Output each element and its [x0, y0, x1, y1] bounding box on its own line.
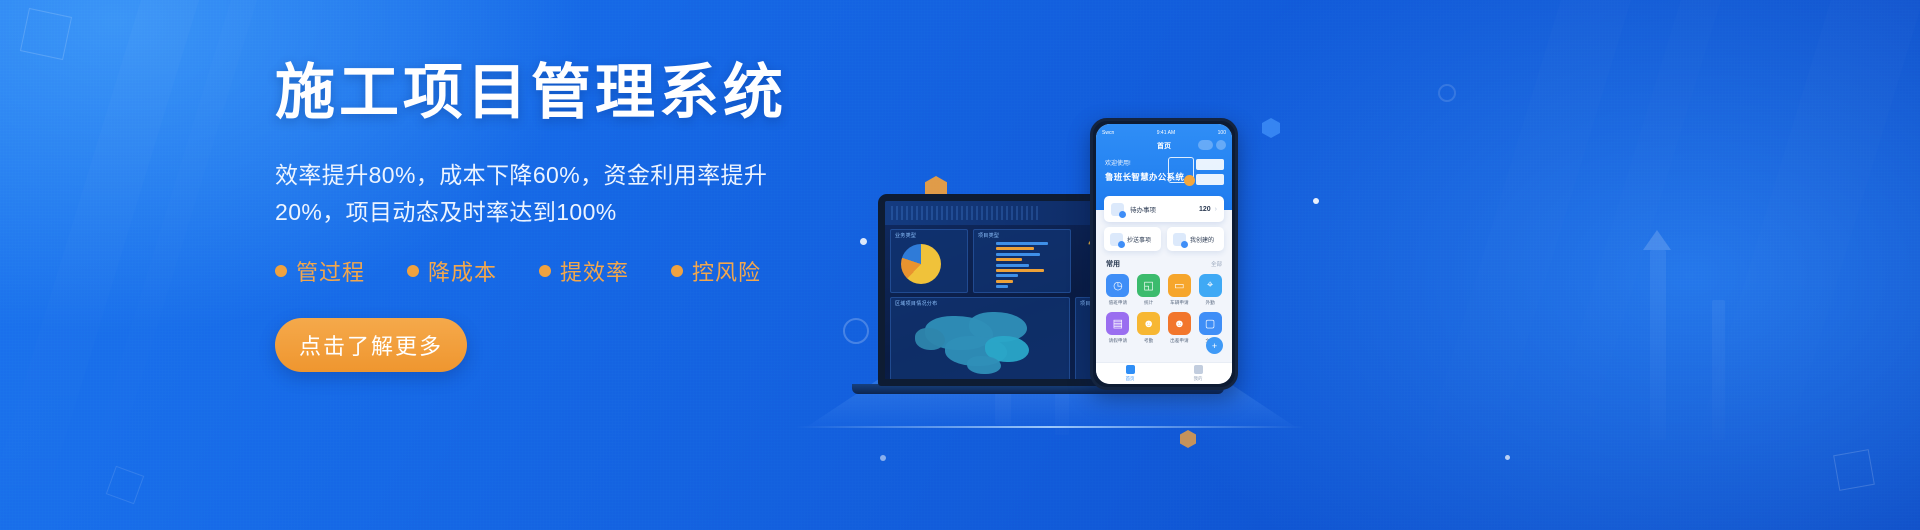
bar-chart	[996, 242, 1066, 291]
panel-business-type: 业务类型	[890, 229, 968, 293]
feature-tag-label: 降成本	[428, 255, 497, 287]
send-icon	[1110, 233, 1123, 246]
bullet-icon	[275, 265, 287, 277]
section-title: 常用	[1106, 259, 1120, 269]
quick-card-row: 抄送事项 我创建的	[1104, 227, 1224, 251]
more-icon[interactable]	[1198, 140, 1213, 150]
app-grid: ◷ 值班申请 ◱ 统计 ▭ 车辆申请 ⌖ 外勤	[1105, 274, 1223, 344]
chevron-right-icon: ›	[1215, 206, 1217, 213]
pie-chart	[901, 244, 941, 284]
bullet-icon	[407, 265, 419, 277]
banner-subtitle: 效率提升80%，成本下降60%，资金利用率提升20%，项目动态及时率达到100%	[275, 157, 795, 232]
feature-tag-label: 管过程	[296, 255, 365, 287]
panel-project-type: 项目类型	[973, 229, 1071, 293]
app-item-travel[interactable]: ☻ 出差申请	[1167, 312, 1193, 344]
status-battery: 100	[1218, 130, 1226, 136]
people-icon: ☻	[1137, 312, 1160, 335]
phone-screen: Swcn 9:41 AM 100 首页 欢迎使用! 鲁班长智慧办公系统	[1096, 124, 1232, 384]
add-button[interactable]: +	[1206, 337, 1223, 354]
panel-label: 业务类型	[895, 232, 916, 239]
target-icon[interactable]	[1216, 140, 1226, 150]
section-header-common: 常用 全部	[1106, 259, 1222, 269]
bullet-icon	[539, 265, 551, 277]
feature-tag-label: 控风险	[692, 255, 761, 287]
phone-status-bar: Swcn 9:41 AM 100	[1102, 128, 1226, 137]
quick-card-label: 抄送事项	[1127, 235, 1151, 244]
tab-home[interactable]: 首页	[1096, 363, 1164, 384]
person-icon: ☻	[1168, 312, 1191, 335]
phone-mockup: Swcn 9:41 AM 100 首页 欢迎使用! 鲁班长智慧办公系统	[1090, 118, 1238, 390]
todo-icon	[1111, 203, 1124, 216]
clock-icon: ◷	[1106, 274, 1129, 297]
app-item-leave[interactable]: ▤ 请假申请	[1105, 312, 1131, 344]
pedestal-edge	[796, 426, 1304, 428]
app-item-attendance[interactable]: ☻ 考勤	[1136, 312, 1162, 344]
status-time: 9:41 AM	[1157, 130, 1175, 136]
quick-card-created[interactable]: 我创建的	[1167, 227, 1224, 251]
document-icon: ▤	[1106, 312, 1129, 335]
status-carrier: Swcn	[1102, 130, 1114, 136]
phone-tab-bar: 首页 我的	[1096, 362, 1232, 384]
panel-region-map: 区域项目情况分布	[890, 297, 1070, 385]
feature-tag-0: 管过程	[275, 255, 365, 287]
quick-card-cc[interactable]: 抄送事项	[1104, 227, 1161, 251]
user-icon	[1194, 365, 1203, 374]
app-label: 车辆申请	[1170, 300, 1188, 306]
phone-illustration	[1168, 155, 1226, 189]
feature-tag-label: 提效率	[560, 255, 629, 287]
panel-label: 项目类型	[978, 232, 999, 239]
header-decor	[891, 206, 1041, 220]
section-more-link[interactable]: 全部	[1211, 260, 1222, 268]
folder-icon: ▢	[1199, 312, 1222, 335]
todo-card[interactable]: 待办事项 120 ›	[1104, 196, 1224, 222]
todo-label: 待办事项	[1130, 204, 1156, 214]
location-icon: ⌖	[1199, 274, 1222, 297]
promo-banner: 施工项目管理系统 效率提升80%，成本下降60%，资金利用率提升20%，项目动态…	[0, 0, 1920, 530]
quick-card-label: 我创建的	[1190, 235, 1214, 244]
feature-tag-2: 提效率	[539, 255, 629, 287]
plus-doc-icon	[1173, 233, 1186, 246]
phone-body: Swcn 9:41 AM 100 首页 欢迎使用! 鲁班长智慧办公系统	[1090, 118, 1238, 390]
china-map	[915, 310, 1051, 380]
panel-label: 区域项目情况分布	[895, 300, 937, 307]
learn-more-button[interactable]: 点击了解更多	[275, 318, 467, 372]
app-label: 出差申请	[1170, 338, 1188, 344]
feature-tag-1: 降成本	[407, 255, 497, 287]
app-label: 请假申请	[1109, 338, 1127, 344]
car-icon: ▭	[1168, 274, 1191, 297]
app-item-vehicle[interactable]: ▭ 车辆申请	[1167, 274, 1193, 306]
tab-mine[interactable]: 我的	[1164, 363, 1232, 384]
device-mockup-group: 市场管理报表 业务类型 项目类型	[790, 110, 1350, 440]
bullet-icon	[671, 265, 683, 277]
app-item-stats[interactable]: ◱ 统计	[1136, 274, 1162, 306]
app-item-duty[interactable]: ◷ 值班申请	[1105, 274, 1131, 306]
phone-nav-actions[interactable]	[1198, 140, 1226, 150]
app-label: 考勤	[1144, 338, 1153, 344]
app-label: 值班申请	[1109, 300, 1127, 306]
app-item-field[interactable]: ⌖ 外勤	[1197, 274, 1223, 306]
chart-icon: ◱	[1137, 274, 1160, 297]
tab-label: 首页	[1126, 376, 1135, 382]
app-label: 统计	[1144, 300, 1153, 306]
feature-tag-3: 控风险	[671, 255, 761, 287]
tab-label: 我的	[1194, 376, 1203, 382]
app-label: 外勤	[1206, 300, 1215, 306]
home-icon	[1126, 365, 1135, 374]
todo-count: 120	[1199, 206, 1211, 213]
